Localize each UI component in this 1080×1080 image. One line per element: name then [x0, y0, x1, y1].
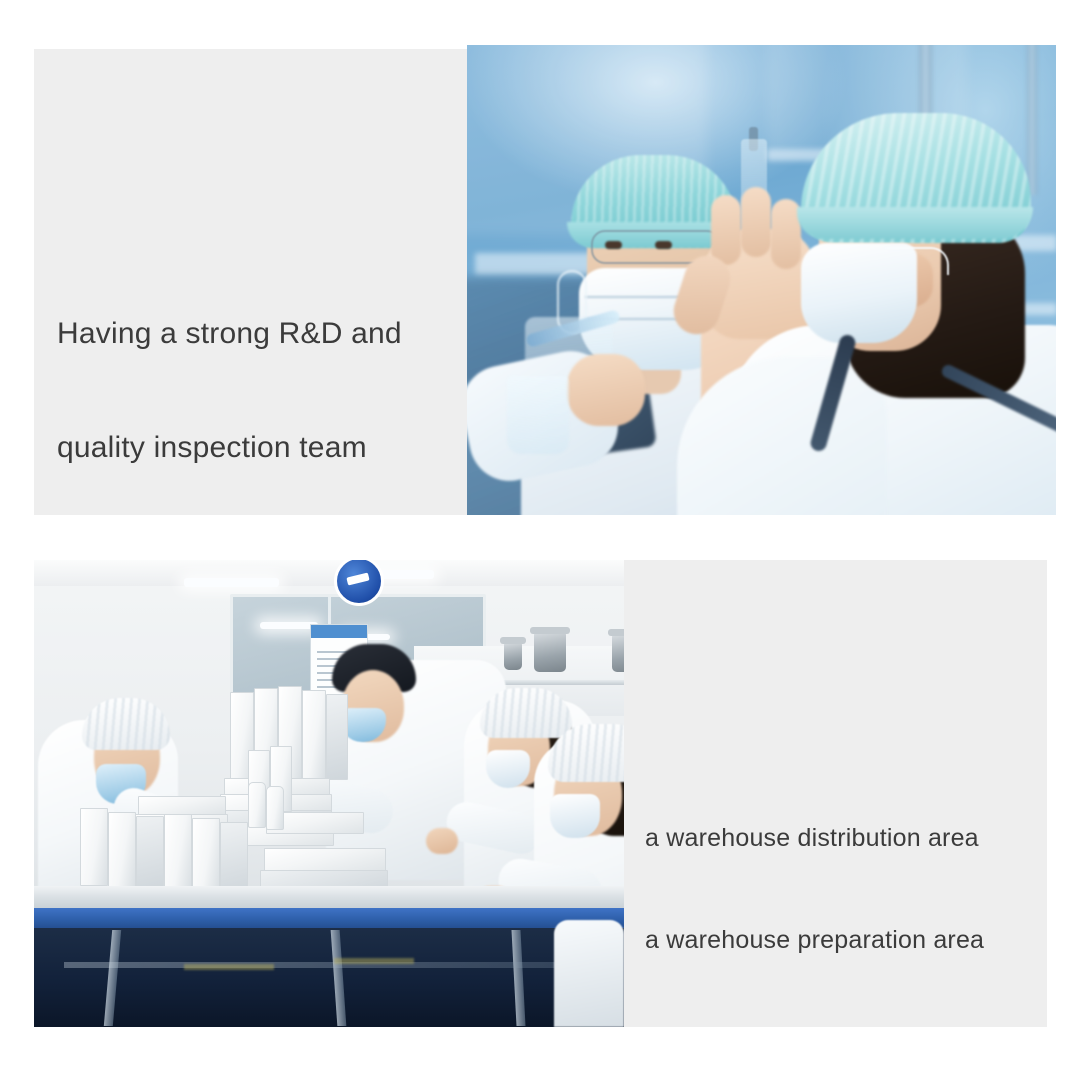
ceiling	[34, 560, 624, 586]
hand-holding-dropper	[495, 300, 655, 470]
carton	[136, 816, 164, 890]
bottom-caption: a warehouse distribution area a warehous…	[645, 753, 984, 1025]
white-coat-lower	[554, 920, 624, 1027]
carton	[108, 812, 136, 888]
top-caption-line-1: Having a strong R&D and	[57, 315, 402, 353]
dropper-pipette	[525, 309, 621, 348]
carton	[326, 694, 348, 780]
hand	[567, 354, 645, 426]
face-mask	[550, 794, 600, 838]
finger	[711, 195, 741, 265]
carton	[302, 690, 326, 780]
hair-net	[480, 688, 572, 738]
technician-eye	[605, 241, 622, 249]
steel-pot	[612, 634, 624, 672]
top-caption: Having a strong R&D and quality inspecti…	[57, 239, 402, 543]
carton	[220, 822, 248, 894]
carton	[80, 808, 108, 886]
face-mask-strap	[885, 247, 949, 275]
lab-technician-profile	[767, 95, 1056, 515]
carton	[164, 814, 192, 890]
ceiling-light	[184, 578, 279, 587]
rd-quality-inspection-photo	[467, 45, 1056, 515]
worker-hand	[426, 828, 458, 854]
bottom-caption-line-2: a warehouse preparation area	[645, 923, 984, 957]
warehouse-packing-photo	[34, 560, 624, 1027]
steel-pot	[534, 632, 566, 672]
top-caption-line-2: quality inspection team	[57, 429, 402, 467]
bottle	[248, 782, 266, 828]
glass-beaker	[507, 376, 569, 454]
floor-marking	[334, 958, 414, 964]
floor-marking	[184, 964, 274, 970]
carton	[138, 796, 226, 816]
blue-table-frame	[34, 908, 624, 930]
worker-lower-body	[554, 920, 624, 1027]
banner-page: Having a strong R&D and quality inspecti…	[0, 0, 1080, 1080]
carton	[192, 818, 220, 892]
bouffant-cap-edge	[797, 207, 1033, 239]
bottom-caption-line-1: a warehouse distribution area	[645, 821, 984, 855]
steel-pot	[504, 642, 522, 670]
carton	[264, 848, 386, 872]
under-table-shadow	[34, 928, 624, 1027]
bottle	[266, 786, 284, 830]
